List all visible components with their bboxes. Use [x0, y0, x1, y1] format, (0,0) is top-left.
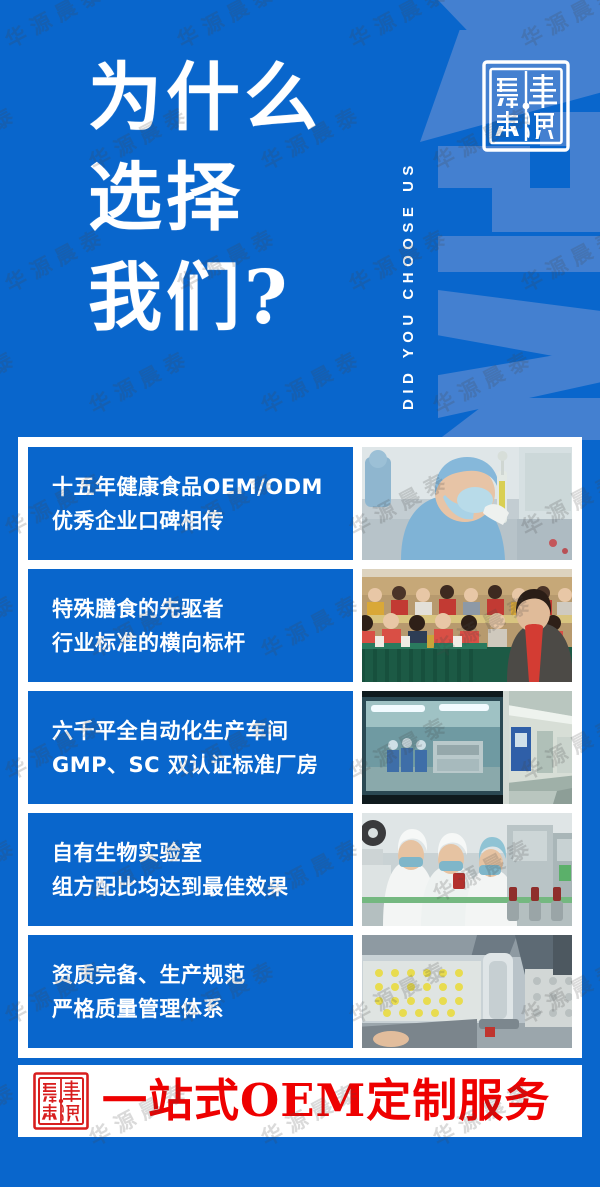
photo-cleanroom-corridor	[362, 691, 572, 804]
photo-capsule-blister-machine	[362, 935, 572, 1048]
feature-card-3[interactable]: 六千平全自动化生产车间 GMP、SC 双认证标准厂房	[28, 691, 353, 804]
poster-header: 为什么 选择 我们? DID YOU CHOOSE US	[0, 0, 600, 440]
feature-line: 资质完备、生产规范	[52, 958, 353, 992]
feature-card-5[interactable]: 资质完备、生产规范 严格质量管理体系	[28, 935, 353, 1048]
feature-line: 六千平全自动化生产车间	[52, 714, 353, 748]
feature-line: GMP、SC 双认证标准厂房	[52, 748, 353, 782]
banner-seal-icon	[32, 1071, 90, 1131]
feature-line: 行业标准的横向标杆	[52, 626, 353, 660]
feature-card-1[interactable]: 十五年健康食品OEM/ODM 优秀企业口碑相传	[28, 447, 353, 560]
feature-row: 资质完备、生产规范 严格质量管理体系	[28, 935, 572, 1048]
feature-line: 组方配比均达到最佳效果	[52, 870, 353, 904]
feature-line: 严格质量管理体系	[52, 992, 353, 1026]
feature-card-2[interactable]: 特殊膳食的先驱者 行业标准的横向标杆	[28, 569, 353, 682]
feature-card-4[interactable]: 自有生物实验室 组方配比均达到最佳效果	[28, 813, 353, 926]
title-line-1: 为什么	[88, 48, 322, 148]
feature-row: 六千平全自动化生产车间 GMP、SC 双认证标准厂房	[28, 691, 572, 804]
feature-row: 自有生物实验室 组方配比均达到最佳效果	[28, 813, 572, 926]
photo-lab-technician-vial	[362, 447, 572, 560]
bottom-banner: 一站式OEM定制服务	[18, 1065, 582, 1137]
company-seal-icon	[480, 58, 572, 154]
features-panel: 十五年健康食品OEM/ODM 优秀企业口碑相传	[18, 437, 582, 1058]
poster-root: 为什么 选择 我们? DID YOU CHOOSE US	[0, 0, 600, 1187]
title-line-3: 我们?	[88, 248, 322, 348]
feature-line: 优秀企业口碑相传	[52, 504, 353, 538]
banner-headline: 一站式OEM定制服务	[102, 1076, 550, 1126]
feature-line: 自有生物实验室	[52, 836, 353, 870]
feature-row: 特殊膳食的先驱者 行业标准的横向标杆	[28, 569, 572, 682]
photo-production-line-staff	[362, 813, 572, 926]
feature-line: 十五年健康食品OEM/ODM	[52, 470, 353, 504]
vertical-tagline: DID YOU CHOOSE US	[400, 20, 430, 410]
title-line-2: 选择	[88, 148, 322, 248]
page-title: 为什么 选择 我们?	[88, 48, 322, 348]
feature-row: 十五年健康食品OEM/ODM 优秀企业口碑相传	[28, 447, 572, 560]
feature-line: 特殊膳食的先驱者	[52, 592, 353, 626]
photo-conference-audience	[362, 569, 572, 682]
